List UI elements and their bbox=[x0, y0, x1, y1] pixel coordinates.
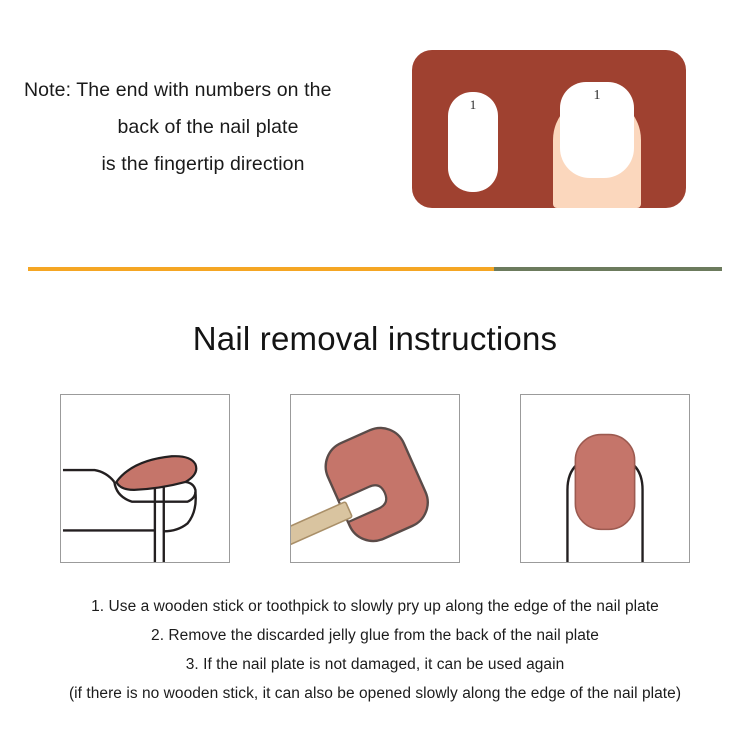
nail-plate-left-number: 1 bbox=[448, 97, 498, 113]
instruction-step-2: 2. Remove the discarded jelly glue from … bbox=[0, 621, 750, 650]
divider-segment-green bbox=[494, 267, 722, 271]
nail-plate-right: 1 bbox=[560, 82, 634, 178]
page-title: Nail removal instructions bbox=[0, 320, 750, 358]
note-text-block: Note: The end with numbers on the back o… bbox=[0, 72, 400, 183]
section-divider bbox=[28, 267, 722, 271]
nail-plate-left: 1 bbox=[448, 92, 498, 192]
instruction-step-3: 3. If the nail plate is not damaged, it … bbox=[0, 650, 750, 679]
illustration-box-2-stick-under-plate bbox=[290, 394, 460, 563]
illustration-box-1-pry-up bbox=[60, 394, 230, 563]
nail-plate-right-number: 1 bbox=[560, 88, 634, 104]
illustration-box-3-plate-on-finger bbox=[520, 394, 690, 563]
instruction-step-1: 1. Use a wooden stick or toothpick to sl… bbox=[0, 592, 750, 621]
note-line-1: Note: The end with numbers on the bbox=[0, 72, 400, 109]
illustration-row bbox=[0, 394, 750, 564]
divider-segment-orange bbox=[28, 267, 494, 271]
note-line-2: back of the nail plate bbox=[0, 109, 400, 146]
note-line-3: is the fingertip direction bbox=[0, 146, 400, 183]
instruction-note-parenthetical: (if there is no wooden stick, it can als… bbox=[0, 679, 750, 708]
nail-plate-card-illustration: 1 1 bbox=[412, 50, 686, 208]
instruction-page: Note: The end with numbers on the back o… bbox=[0, 0, 750, 750]
instruction-steps: 1. Use a wooden stick or toothpick to sl… bbox=[0, 592, 750, 708]
